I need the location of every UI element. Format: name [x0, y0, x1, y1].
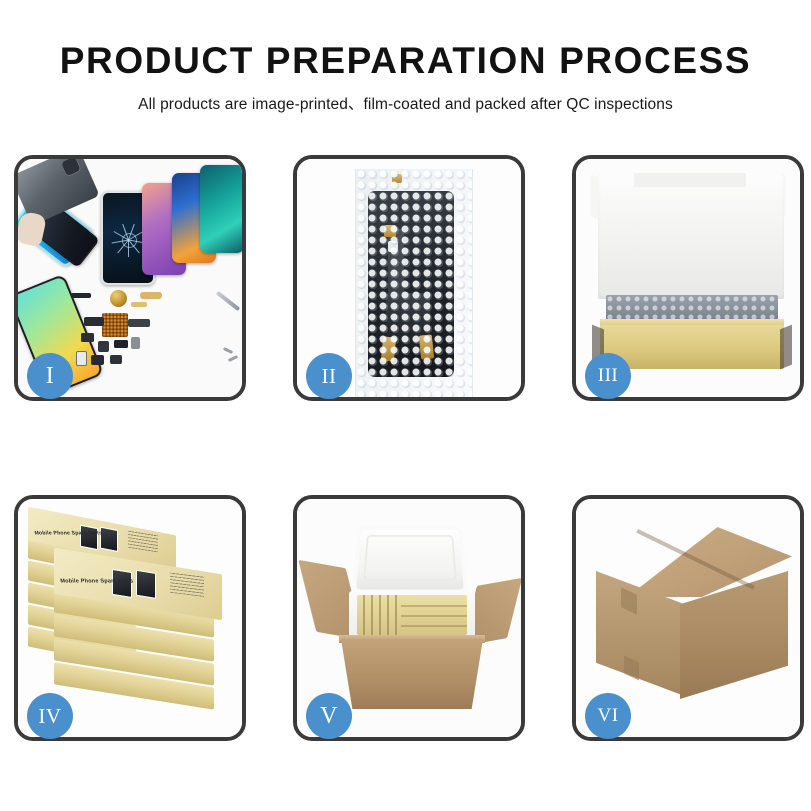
step-badge-4: IV	[27, 693, 73, 739]
screen-thumbnail-rear-2	[100, 527, 118, 552]
small-part-4-icon	[131, 337, 140, 349]
flex-connector-icon	[128, 319, 150, 327]
step-badge-6: VI	[585, 693, 631, 739]
box-lid-top-band	[634, 173, 746, 187]
screwdriver-2-icon	[228, 355, 238, 362]
flex-cable-gold-icon	[140, 292, 162, 299]
small-part-1-icon	[81, 333, 94, 342]
step-badge-1: I	[27, 353, 73, 399]
box-white-lid	[598, 173, 784, 299]
step-card-4[interactable]: Mobile Phone Spare Parts Mobile Phone Sp…	[14, 495, 246, 741]
screen-thumbnail-rear-1	[80, 525, 98, 550]
gold-coil-part-icon	[110, 290, 127, 307]
screen-thumbnail-front-2	[136, 570, 156, 599]
flex-cable-dark-icon	[84, 317, 104, 326]
label-text-lines-front	[170, 571, 204, 597]
tweezers-tool-icon	[216, 291, 241, 311]
bubble-texture-overlay	[356, 169, 472, 397]
page-header: PRODUCT PREPARATION PROCESS All products…	[0, 0, 811, 114]
step-badge-3: III	[585, 353, 631, 399]
page-title: PRODUCT PREPARATION PROCESS	[0, 42, 811, 81]
flex-cable-gold-small-icon	[131, 302, 147, 307]
foam-lid	[351, 526, 468, 594]
step-card-2[interactable]: II	[293, 155, 525, 401]
step-card-6[interactable]: VI	[572, 495, 804, 741]
step-badge-2: II	[306, 353, 352, 399]
small-part-3-icon	[114, 340, 128, 348]
stack-box-label-front: Mobile Phone Spare Parts	[60, 578, 134, 584]
step-card-3[interactable]: III	[572, 155, 804, 401]
step-card-1[interactable]: I	[14, 155, 246, 401]
carton-front-face	[341, 639, 483, 709]
small-part-7-icon	[110, 355, 122, 364]
crack-pattern-icon	[111, 223, 145, 257]
small-part-2-icon	[98, 341, 109, 352]
small-part-6-icon	[91, 355, 104, 365]
gold-boxes-inside	[357, 595, 467, 635]
copper-grid-part-icon	[102, 313, 128, 337]
step-card-5[interactable]: V	[293, 495, 525, 741]
page-subtitle: All products are image-printed、film-coat…	[0, 92, 811, 114]
bubble-wrap-sheet	[355, 169, 473, 397]
screwdriver-1-icon	[223, 347, 233, 354]
small-part-5-icon	[76, 351, 87, 366]
phone-teal-icon	[200, 165, 242, 253]
step-badge-5: V	[306, 693, 352, 739]
stack-box-label-rear: Mobile Phone Spare Parts	[34, 530, 103, 536]
label-text-lines-rear	[128, 530, 158, 553]
process-steps-grid: I II	[14, 155, 800, 741]
speaker-bar-part-icon	[71, 293, 91, 298]
box-gold-front	[600, 325, 784, 369]
